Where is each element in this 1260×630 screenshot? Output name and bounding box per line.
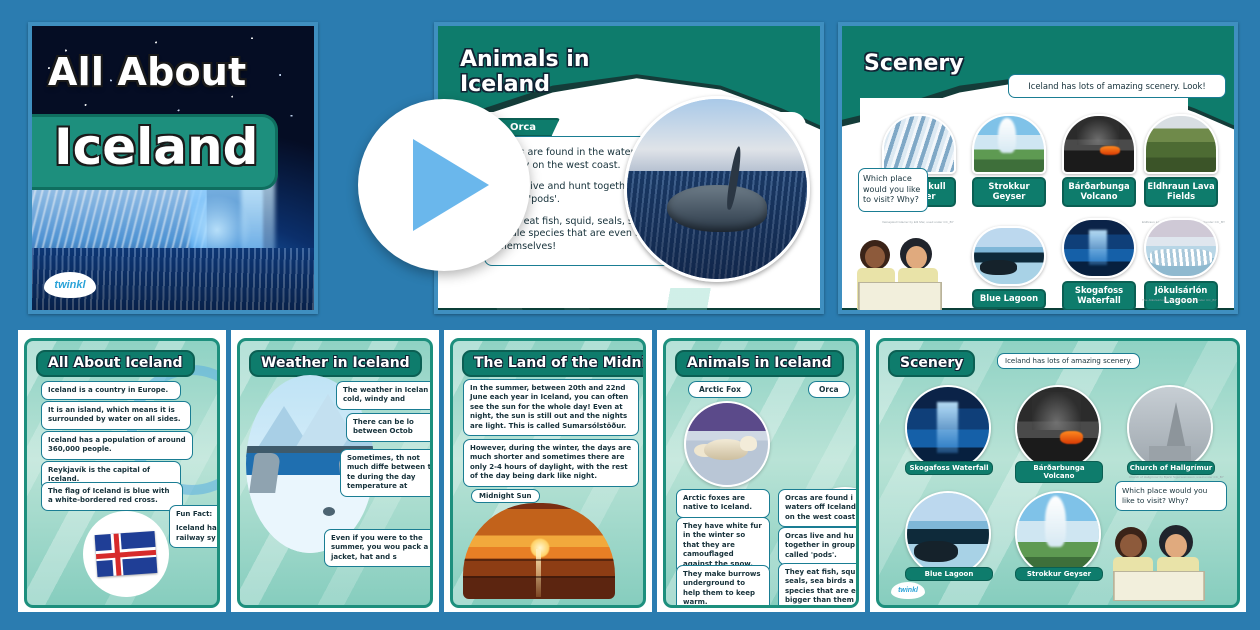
child2-face bbox=[1165, 534, 1187, 558]
midnight-sun-label: Midnight Sun bbox=[471, 489, 540, 503]
thumbnail-all-about-iceland[interactable]: All About Iceland Iceland is a country i… bbox=[18, 330, 226, 612]
paragraph-box: However, during the winter, the days are… bbox=[463, 439, 639, 487]
fact-box: Orcas live and hu together in group call… bbox=[778, 527, 859, 565]
fact-box: Even if you were to the summer, you wou … bbox=[324, 529, 433, 567]
fact-box: The weather in Icelan be cold, windy and bbox=[336, 381, 433, 410]
animal-pill-arctic-fox: Arctic Fox bbox=[688, 381, 752, 398]
scenery-banner: Iceland has lots of amazing scenery. bbox=[997, 353, 1140, 369]
thumb-canvas: Scenery Iceland has lots of amazing scen… bbox=[876, 338, 1240, 608]
scenery-item[interactable]: Strokkur Geyser bbox=[972, 114, 1046, 207]
child1-face bbox=[865, 246, 885, 268]
thumb-canvas: Weather in Iceland The weather in Icelan… bbox=[237, 338, 433, 608]
twinkl-logo: twinkl bbox=[891, 582, 925, 599]
photo-sky bbox=[627, 99, 807, 171]
scenery-question: Which place would you like to visit? Why… bbox=[858, 168, 928, 212]
photo-blue-lagoon bbox=[907, 493, 989, 575]
hero-artwork: All About Iceland twinkl bbox=[32, 26, 314, 310]
scenery-label: Strokkur Geyser bbox=[972, 177, 1046, 207]
photo-credit: The Jökulsárlón by Diego Delso, used und… bbox=[1142, 298, 1217, 302]
photo-blue-lagoon bbox=[974, 228, 1044, 284]
scenery-label: Blue Lagoon bbox=[905, 567, 993, 581]
fun-fact-text: Iceland ha railway sy bbox=[176, 524, 220, 543]
fact-box: They make burrows underground to help th… bbox=[676, 565, 770, 608]
thumb-canvas: The Land of the Midnight Su In the summe… bbox=[450, 338, 646, 608]
fact-box: The flag of Iceland is blue with a white… bbox=[41, 482, 183, 511]
thumb-title: All About Iceland bbox=[36, 350, 195, 377]
scenery-item[interactable]: Blue Lagoon bbox=[905, 491, 993, 581]
photo-credit: Church of Hallgrímur by Bjarki Sigursvei… bbox=[1129, 475, 1224, 479]
fun-fact-title: Fun Fact: bbox=[176, 510, 220, 519]
children-illustration bbox=[1113, 525, 1217, 601]
photo-geyser bbox=[974, 116, 1044, 172]
map-prop bbox=[858, 282, 942, 310]
scenery-question: Which place would you like to visit? Why… bbox=[1115, 481, 1227, 511]
scenery-banner: Iceland has lots of amazing scenery. Loo… bbox=[1008, 74, 1226, 98]
iceland-flag-wrap bbox=[83, 511, 169, 597]
scenery-item[interactable]: Bárðarbunga Volcano bbox=[1062, 114, 1136, 207]
photo-skogafoss bbox=[1064, 220, 1134, 276]
fact-box: Iceland is a country in Europe. bbox=[41, 381, 181, 400]
fact-box: Arctic foxes are native to Iceland. bbox=[676, 489, 770, 518]
thumbnail-land-of-midnight-sun[interactable]: The Land of the Midnight Su In the summe… bbox=[444, 330, 652, 612]
scenery-photo bbox=[1144, 218, 1218, 278]
scenery-item[interactable]: Eldhraun Lava Fields bbox=[1144, 114, 1218, 207]
scenery-photo bbox=[1144, 114, 1218, 174]
slide-title: Scenery bbox=[864, 52, 964, 77]
slide-scenery[interactable]: Scenery Iceland has lots of amazing scen… bbox=[838, 22, 1238, 314]
sun-reflection bbox=[536, 549, 541, 597]
photo-geyser bbox=[1017, 493, 1099, 575]
child1-face bbox=[1120, 534, 1142, 557]
scenery-label: Strokkur Geyser bbox=[1015, 567, 1103, 581]
slide-preview-row: All About Iceland twinkl Animals in Icel… bbox=[0, 0, 1260, 330]
thumbnail-scenery[interactable]: Scenery Iceland has lots of amazing scen… bbox=[870, 330, 1246, 612]
thumb-canvas: Animals in Iceland Arctic Fox Orca Arcti… bbox=[663, 338, 859, 608]
thumbnail-animals-in-iceland[interactable]: Animals in Iceland Arctic Fox Orca Arcti… bbox=[657, 330, 865, 612]
horizon-line bbox=[463, 576, 615, 578]
thumb-title: The Land of the Midnight Su bbox=[462, 350, 646, 377]
scenery-item[interactable]: Skogafoss Waterfall bbox=[1062, 218, 1136, 310]
play-button[interactable] bbox=[358, 99, 530, 271]
fact-box: There can be lo between Octob bbox=[346, 413, 433, 442]
thumb-title: Scenery bbox=[888, 350, 975, 377]
scenery-item[interactable]: Bárðarbunga Volcano bbox=[1015, 385, 1103, 483]
fact-box: Orcas are found i waters off Iceland on … bbox=[778, 489, 859, 527]
horizon-line bbox=[463, 559, 615, 561]
animal-pill-orca: Orca bbox=[808, 381, 850, 398]
hero-title-line2: Iceland bbox=[54, 118, 258, 176]
scenery-slide-canvas: Scenery Iceland has lots of amazing scen… bbox=[842, 26, 1234, 310]
scenery-item[interactable]: Skogafoss Waterfall bbox=[905, 385, 993, 475]
scenery-label: Blue Lagoon bbox=[972, 289, 1046, 309]
thumbnail-weather-in-iceland[interactable]: Weather in Iceland The weather in Icelan… bbox=[231, 330, 439, 612]
thumb-canvas: All About Iceland Iceland is a country i… bbox=[24, 338, 220, 608]
scenery-photo bbox=[1015, 385, 1101, 471]
photo-jokulsarlon bbox=[1146, 220, 1216, 276]
scenery-item[interactable]: Church of Hallgrímur bbox=[1127, 385, 1215, 475]
slide-title-line1: Animals in bbox=[460, 47, 590, 72]
iceland-flag-icon bbox=[95, 531, 158, 577]
scenery-photo bbox=[1015, 491, 1101, 577]
scenery-photo bbox=[1062, 218, 1136, 278]
scenery-label: Jökulsárlón Lagoon bbox=[1144, 281, 1218, 310]
fact-box: Sometimes, th not much diffe between the… bbox=[340, 449, 433, 497]
scenery-label: Eldhraun Lava Fields bbox=[1144, 177, 1218, 207]
slide-title: Animals in Iceland bbox=[460, 48, 590, 97]
slide-title-line2: Iceland bbox=[460, 72, 550, 97]
photo-lava-fields bbox=[1146, 116, 1216, 172]
scenery-photo bbox=[905, 385, 991, 471]
photo-glacier bbox=[884, 116, 954, 172]
scenery-label: Bárðarbunga Volcano bbox=[1062, 177, 1136, 207]
fun-fact-box: Fun Fact: Iceland ha railway sy bbox=[169, 505, 220, 548]
scenery-item[interactable]: Strokkur Geyser bbox=[1015, 491, 1103, 581]
scenery-photo bbox=[905, 491, 991, 577]
play-triangle-icon bbox=[413, 139, 489, 231]
children-illustration bbox=[856, 238, 956, 310]
fox-head bbox=[740, 436, 756, 451]
twinkl-logo: twinkl bbox=[44, 272, 96, 298]
thumb-title: Weather in Iceland bbox=[249, 350, 422, 377]
scenery-photo bbox=[882, 114, 956, 174]
scenery-label: Skogafoss Waterfall bbox=[1062, 281, 1136, 310]
scenery-photo bbox=[1127, 385, 1213, 471]
midnight-sun-photo bbox=[463, 503, 615, 599]
scenery-item[interactable]: Jökulsárlón Lagoon bbox=[1144, 218, 1218, 310]
scenery-label: Church of Hallgrímur bbox=[1127, 461, 1215, 475]
scenery-photo bbox=[1062, 114, 1136, 174]
thumb-title: Animals in Iceland bbox=[675, 350, 844, 377]
hero-title-line1: All About bbox=[48, 50, 246, 94]
arctic-fox-photo bbox=[684, 401, 770, 487]
scenery-item[interactable]: Blue Lagoon bbox=[972, 226, 1046, 309]
stone bbox=[323, 507, 335, 516]
map-prop bbox=[1113, 571, 1205, 601]
fact-box: It is an island, which means it is surro… bbox=[41, 401, 191, 430]
fact-box: Iceland has a population of around 360,0… bbox=[41, 431, 193, 460]
paragraph-box: In the summer, between 20th and 22nd Jun… bbox=[463, 379, 639, 436]
orca-photo bbox=[624, 96, 810, 282]
photo-church bbox=[1129, 387, 1211, 469]
scenery-label: Bárðarbunga Volcano bbox=[1015, 461, 1103, 483]
hero-slide-all-about-iceland[interactable]: All About Iceland twinkl bbox=[28, 22, 318, 314]
photo-skogafoss bbox=[907, 387, 989, 469]
scenery-photo bbox=[972, 226, 1046, 286]
photo-volcano bbox=[1064, 116, 1134, 172]
photo-volcano bbox=[1017, 387, 1099, 469]
fact-box: They eat fish, squ seals, sea birds a sp… bbox=[778, 563, 859, 608]
thumbnail-row: All About Iceland Iceland is a country i… bbox=[18, 330, 1246, 612]
scenery-label: Skogafoss Waterfall bbox=[905, 461, 993, 475]
child2-face bbox=[906, 246, 927, 269]
orca-body bbox=[667, 185, 768, 232]
photo-credit: Vatnajokull Glacier by Elli Mar, used un… bbox=[882, 220, 954, 224]
scenery-photo bbox=[972, 114, 1046, 174]
